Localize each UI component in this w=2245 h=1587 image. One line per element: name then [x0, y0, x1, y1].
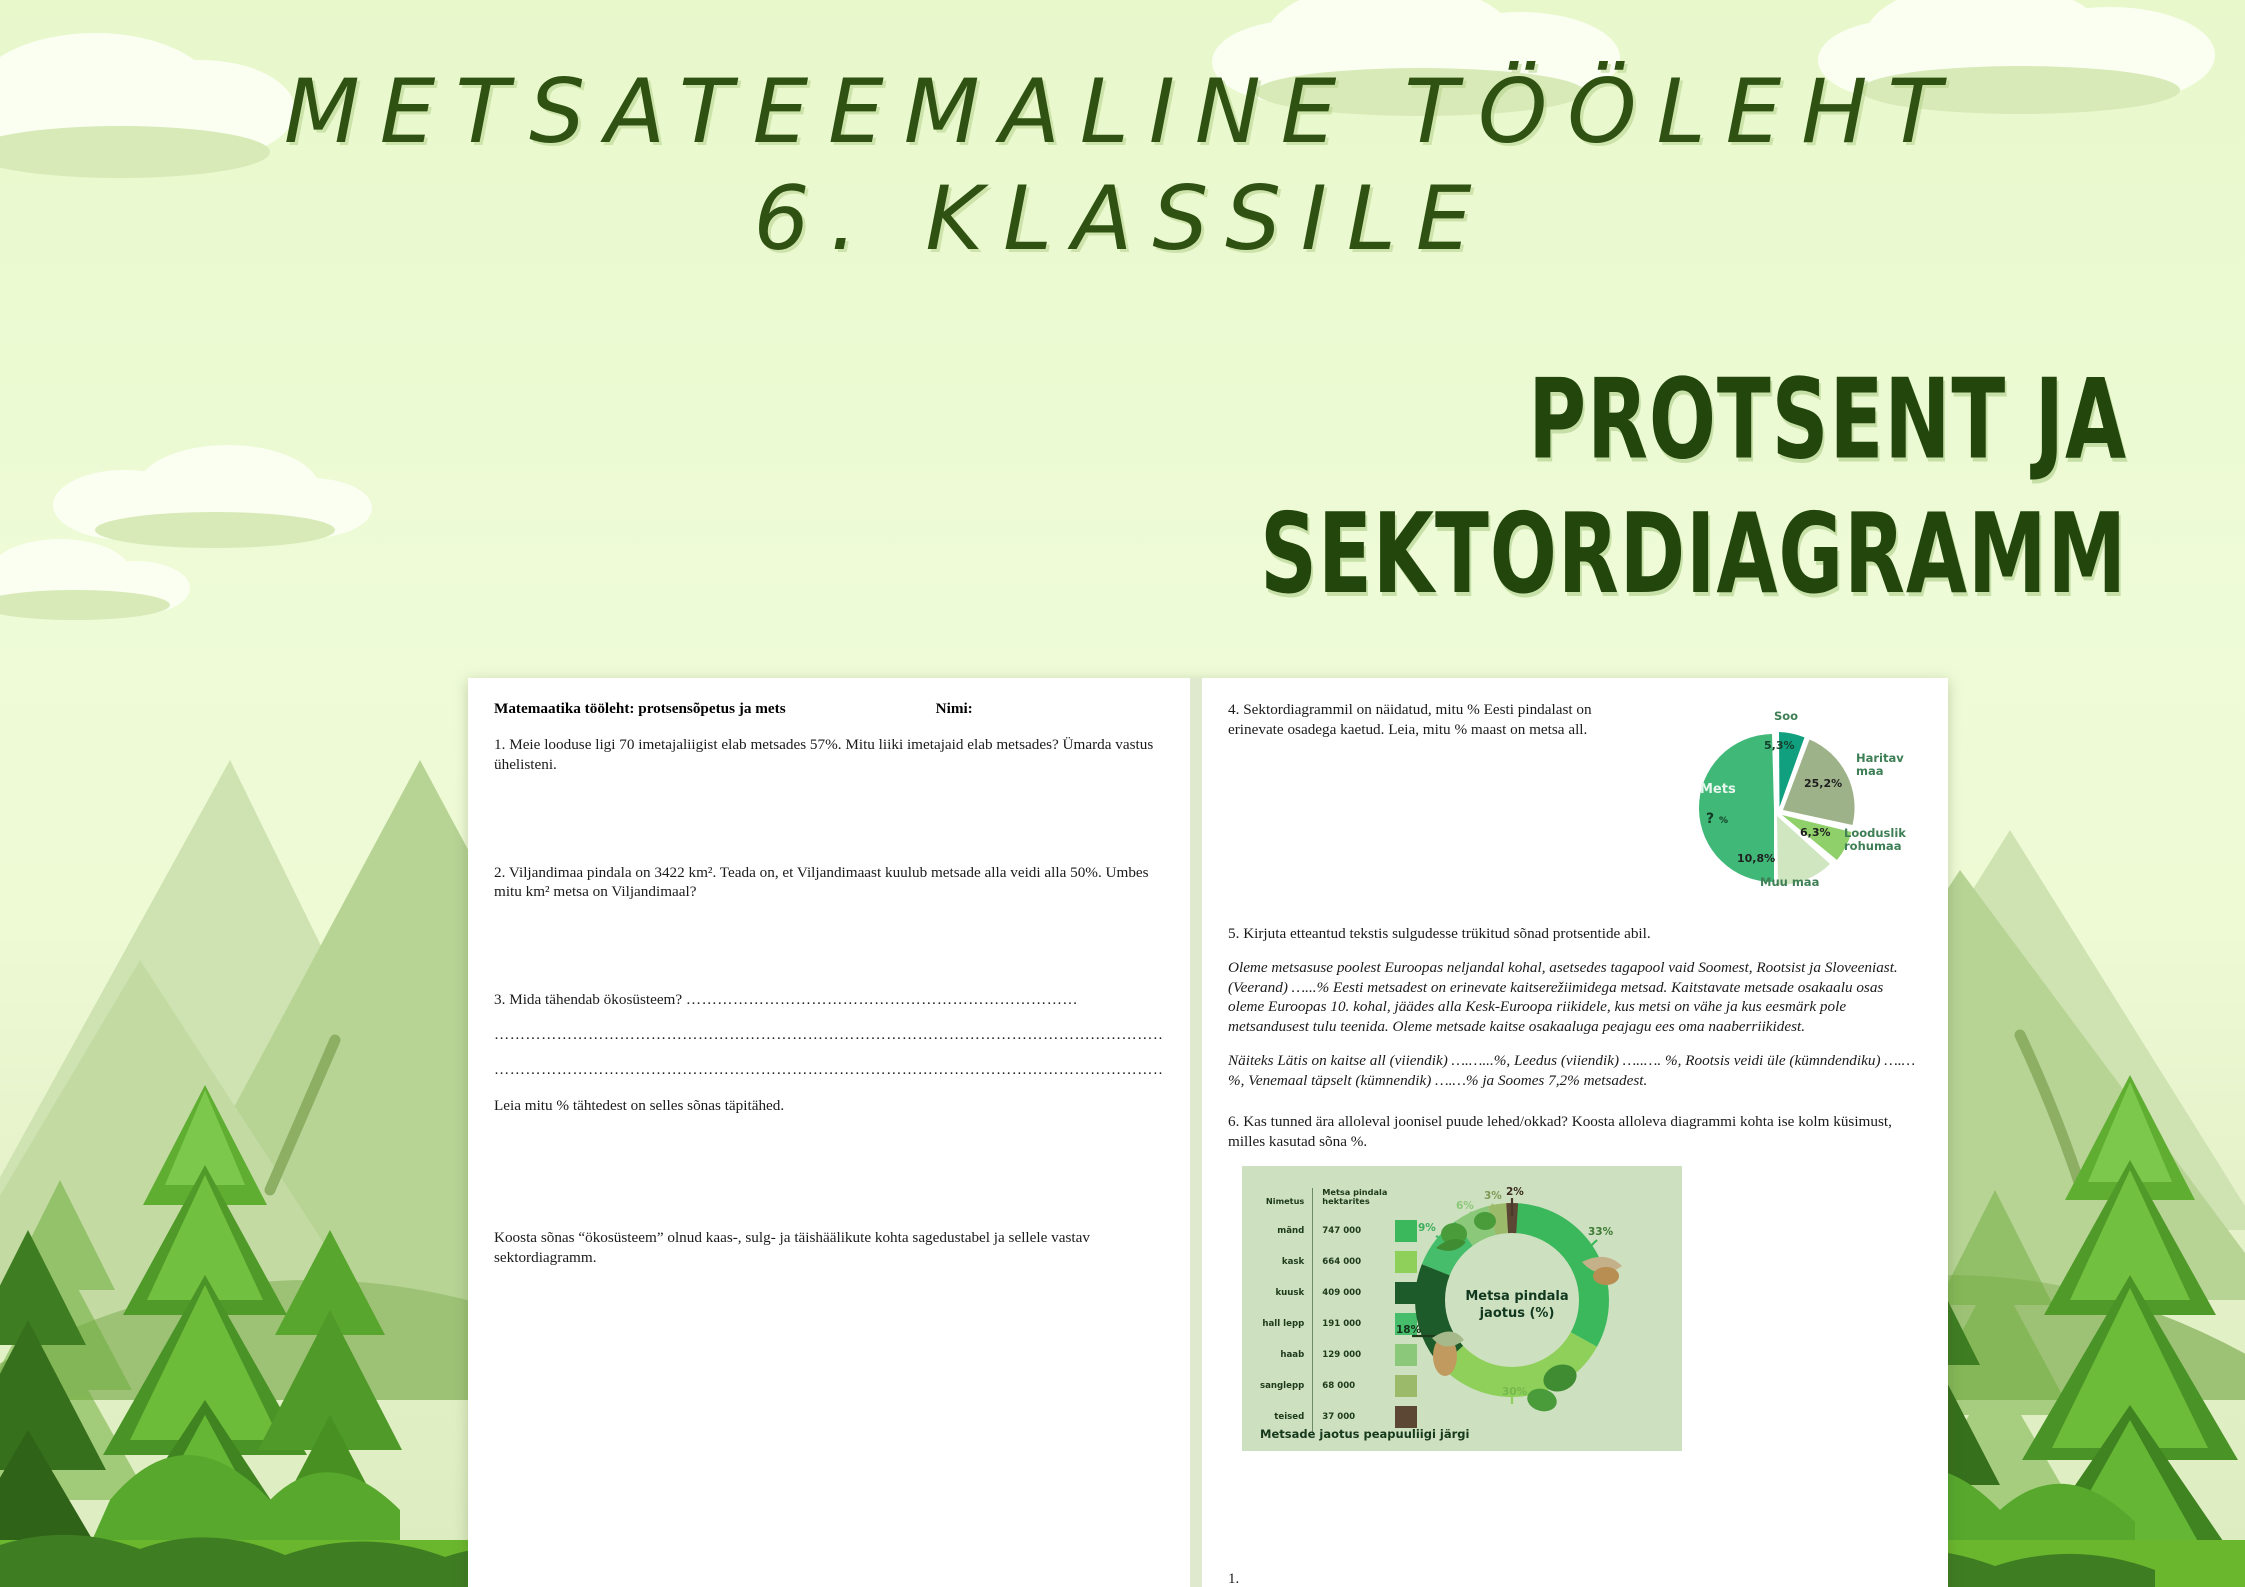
question-3-text: 3. Mida tähendab ökosüsteem? [494, 991, 682, 1008]
cell-area: 68 000 [1313, 1370, 1396, 1401]
question-3-followup: Leia mitu % tähtedest on selles sõnas tä… [494, 1096, 1164, 1116]
donut-value-hall-lepp: 9% [1418, 1222, 1436, 1234]
cloud-icon [53, 445, 372, 548]
cell-name: kask [1260, 1246, 1313, 1277]
question-3: 3. Mida tähendab ökosüsteem? ……………………………… [494, 990, 1164, 1010]
question-2: 2. Viljandimaa pindala on 3422 km². Tead… [494, 863, 1164, 903]
cell-name: haab [1260, 1339, 1313, 1370]
donut-value-kask: 30% [1502, 1386, 1527, 1398]
pie-label-muu-maa: Muu maa [1760, 876, 1819, 889]
pie-value-looduslik-rohumaa: 6,3% [1800, 826, 1831, 839]
cell-name: kuusk [1260, 1277, 1313, 1308]
question-5: 5. Kirjuta etteantud tekstis sulgudesse … [1228, 924, 1922, 944]
page-title-line2: 6. KLASSILE [753, 167, 1491, 270]
cell-area: 129 000 [1313, 1339, 1396, 1370]
donut-value-kuusk: 18% [1396, 1324, 1421, 1336]
worksheet-page-left[interactable]: Matemaatika tööleht: protsensõpetus ja m… [468, 678, 1190, 1587]
pie-value-haritav-maa: 25,2% [1804, 777, 1842, 790]
worksheet-header: Matemaatika tööleht: protsensõpetus ja m… [494, 700, 1164, 718]
page-title-line1: METSATEEMALINE TÖÖLEHT [284, 60, 1961, 163]
question-4: 4. Sektordiagrammil on näidatud, mitu % … [1228, 700, 1628, 740]
pie-label-haritav-maa: Haritav maa [1856, 752, 1904, 778]
donut-value-haab: 6% [1456, 1200, 1474, 1212]
name-field-label: Nimi: [936, 700, 973, 718]
page-gutter [1190, 678, 1202, 1587]
question-3-dotted-line-3[interactable]: …………………………………………………………………………………………………………… [494, 1060, 1164, 1080]
question-3-dotted-line-1[interactable]: ………………………………………………………………… [686, 991, 1078, 1008]
pie-value-muu-maa: 10,8% [1737, 852, 1775, 865]
worksheet-preview[interactable]: Matemaatika tööleht: protsensõpetus ja m… [468, 678, 1948, 1587]
donut-value-teised: 2% [1506, 1186, 1524, 1198]
column-header-pindala: Metsa pindala hektarites [1313, 1188, 1396, 1215]
donut-value-mand: 33% [1588, 1226, 1613, 1238]
question-3-task: Koosta sõnas “ökosüsteem” olnud kaas-, s… [494, 1228, 1164, 1268]
cell-area: 747 000 [1313, 1215, 1396, 1246]
answer-space-2[interactable] [494, 902, 1164, 990]
pie-value-soo: 5,3% [1764, 739, 1795, 752]
cell-area: 664 000 [1313, 1246, 1396, 1277]
pie-label-looduslik-rohumaa: Looduslik rohumaa [1844, 827, 1906, 853]
page-subtitle-line1: PROTSENT JA [1528, 355, 2127, 484]
cell-area: 409 000 [1313, 1277, 1396, 1308]
answer-space-3[interactable] [494, 1116, 1164, 1228]
cloud-icon [0, 539, 190, 620]
worksheet-page-right[interactable]: 4. Sektordiagrammil on näidatud, mitu % … [1202, 678, 1948, 1587]
cell-name: sanglepp [1260, 1370, 1313, 1401]
pie-label-mets: Mets [1700, 783, 1736, 798]
page-subtitle: PROTSENT JASEKTORDIAGRAMM [1093, 352, 2127, 623]
poster-canvas: METSATEEMALINE TÖÖLEHT6. KLASSILE PROTSE… [0, 0, 2245, 1587]
cell-name: mänd [1260, 1215, 1313, 1246]
question-6: 6. Kas tunned ära alloleval joonisel puu… [1228, 1112, 1922, 1152]
answer-space-1[interactable] [494, 775, 1164, 863]
donut-chart-metsa-pindala: Metsa pindala jaotus (%) 33% 30% 18% 9% … [1392, 1188, 1642, 1423]
page-number: 1. [1228, 1571, 1239, 1587]
page-subtitle-line2: SEKTORDIAGRAMM [1260, 490, 2127, 619]
donut-center-label: Metsa pindala jaotus (%) [1455, 1289, 1580, 1322]
page-title: METSATEEMALINE TÖÖLEHT6. KLASSILE [0, 58, 2245, 273]
donut-value-sanglepp: 3% [1484, 1190, 1502, 1202]
question-5-paragraph-2: Näiteks Lätis on kaitse all (viiendik) …… [1228, 1051, 1922, 1091]
worksheet-title: Matemaatika tööleht: protsensõpetus ja m… [494, 700, 786, 718]
question-5-paragraph-1: Oleme metsasuse poolest Euroopas neljand… [1228, 958, 1922, 1037]
pie-label-soo: Soo [1774, 710, 1798, 723]
infographic-caption: Metsade jaotus peapuuliigi järgi [1260, 1427, 1469, 1441]
forest-distribution-infographic: Nimetus Metsa pindala hektarites mänd747… [1242, 1166, 1682, 1451]
pie-chart-eesti-pindala: Soo 5,3% Haritav maa 25,2% Looduslik roh… [1658, 712, 1908, 902]
cell-area: 191 000 [1313, 1308, 1396, 1339]
question-3-dotted-line-2[interactable]: …………………………………………………………………………………………………………… [494, 1025, 1164, 1045]
cell-name: hall lepp [1260, 1308, 1313, 1339]
column-header-nimetus: Nimetus [1260, 1188, 1313, 1215]
pie-value-mets: ? % [1706, 811, 1728, 827]
question-1: 1. Meie looduse ligi 70 imetajaliigist e… [494, 735, 1164, 775]
